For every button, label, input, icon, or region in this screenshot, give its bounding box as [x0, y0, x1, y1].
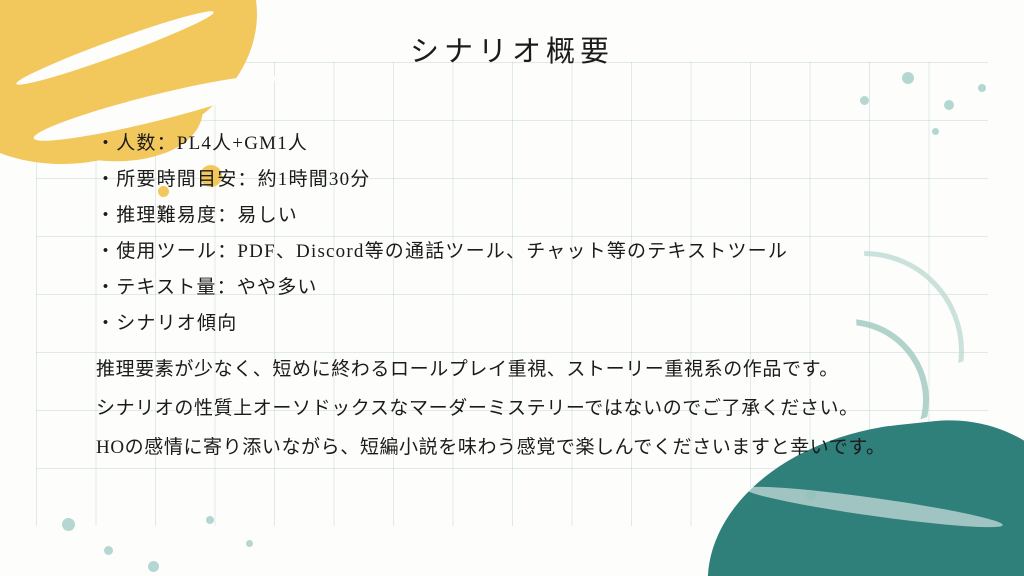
speck-icon	[902, 72, 914, 84]
speck-icon	[104, 546, 113, 555]
list-item: ・テキスト量：やや多い	[96, 270, 926, 306]
list-item: ・人数：PL4人+GM1人	[96, 126, 926, 162]
speck-icon	[206, 516, 214, 524]
paragraph: シナリオの性質上オーソドックスなマーダーミステリーではないのでご了承ください。	[96, 389, 926, 428]
speck-icon	[246, 540, 253, 547]
slide-body: ・人数：PL4人+GM1人 ・所要時間目安：約1時間30分 ・推理難易度：易しい…	[96, 126, 926, 467]
page-title: シナリオ概要	[0, 28, 1024, 70]
speck-icon	[62, 518, 75, 531]
paragraph: HOの感情に寄り添いながら、短編小説を味わう感覚で楽しんでくださいますと幸いです…	[96, 428, 926, 467]
list-item: ・使用ツール：PDF、Discord等の通話ツール、チャット等のテキストツール	[96, 234, 926, 270]
list-item: ・所要時間目安：約1時間30分	[96, 162, 926, 198]
speck-icon	[806, 490, 816, 500]
list-item: ・推理難易度：易しい	[96, 198, 926, 234]
paragraph: 推理要素が少なく、短めに終わるロールプレイ重視、ストーリー重視系の作品です。	[96, 350, 926, 389]
speck-icon	[148, 561, 159, 572]
speck-icon	[978, 84, 986, 92]
list-item: ・シナリオ傾向	[96, 306, 926, 342]
slide-canvas: シナリオ概要 ・人数：PL4人+GM1人 ・所要時間目安：約1時間30分 ・推理…	[0, 0, 1024, 576]
speck-icon	[860, 96, 869, 105]
speck-icon	[944, 100, 954, 110]
teal-brush-streak-icon	[744, 480, 1004, 534]
speck-icon	[932, 128, 939, 135]
paragraph-block: 推理要素が少なく、短めに終わるロールプレイ重視、ストーリー重視系の作品です。 シ…	[96, 350, 926, 467]
